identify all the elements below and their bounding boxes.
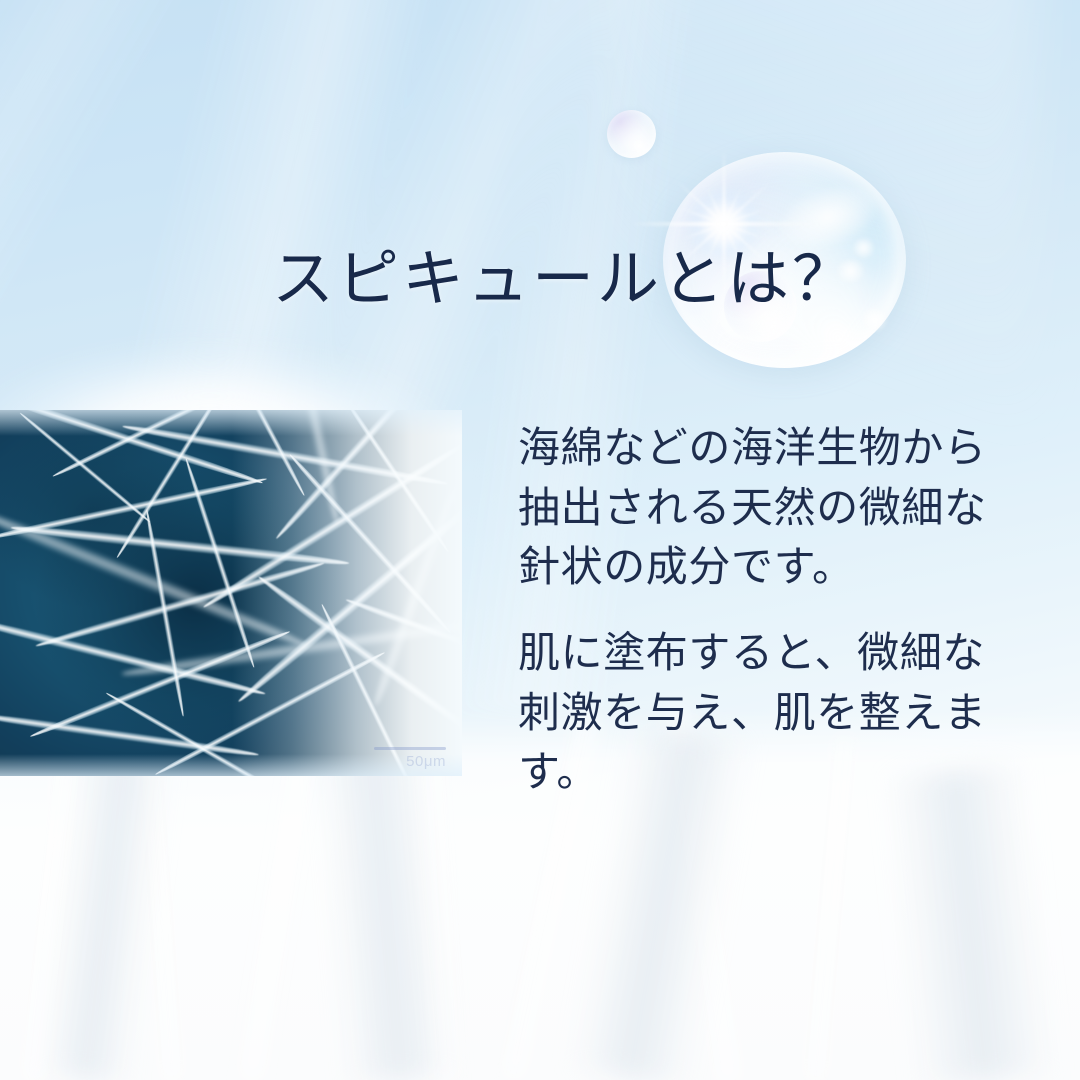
body-paragraph-2: 肌に塗布すると、微細な刺激を与え、肌を整えます。 — [518, 623, 1010, 802]
body-text-column: 海綿などの海洋生物から抽出される天然の微細な針状の成分です。 肌に塗布すると、微… — [518, 418, 1010, 802]
body-paragraph-1: 海綿などの海洋生物から抽出される天然の微細な針状の成分です。 — [518, 418, 1010, 597]
droplet-highlight-dot — [862, 308, 886, 332]
photo-fade-bottom — [0, 754, 462, 776]
photo-fade-right — [232, 410, 462, 776]
slide-canvas: 50μm スピキュールとは？ 海綿などの海洋生物から抽出される天然の微細な針状の… — [0, 0, 1080, 1080]
spicule-microscope-photo: 50μm — [0, 410, 462, 776]
water-droplet-small — [607, 110, 656, 158]
photo-fade-top — [0, 410, 462, 436]
scale-bar-icon — [374, 747, 446, 750]
page-title: スピキュールとは？ — [272, 248, 857, 313]
scale-bar-label: 50μm — [406, 753, 446, 770]
